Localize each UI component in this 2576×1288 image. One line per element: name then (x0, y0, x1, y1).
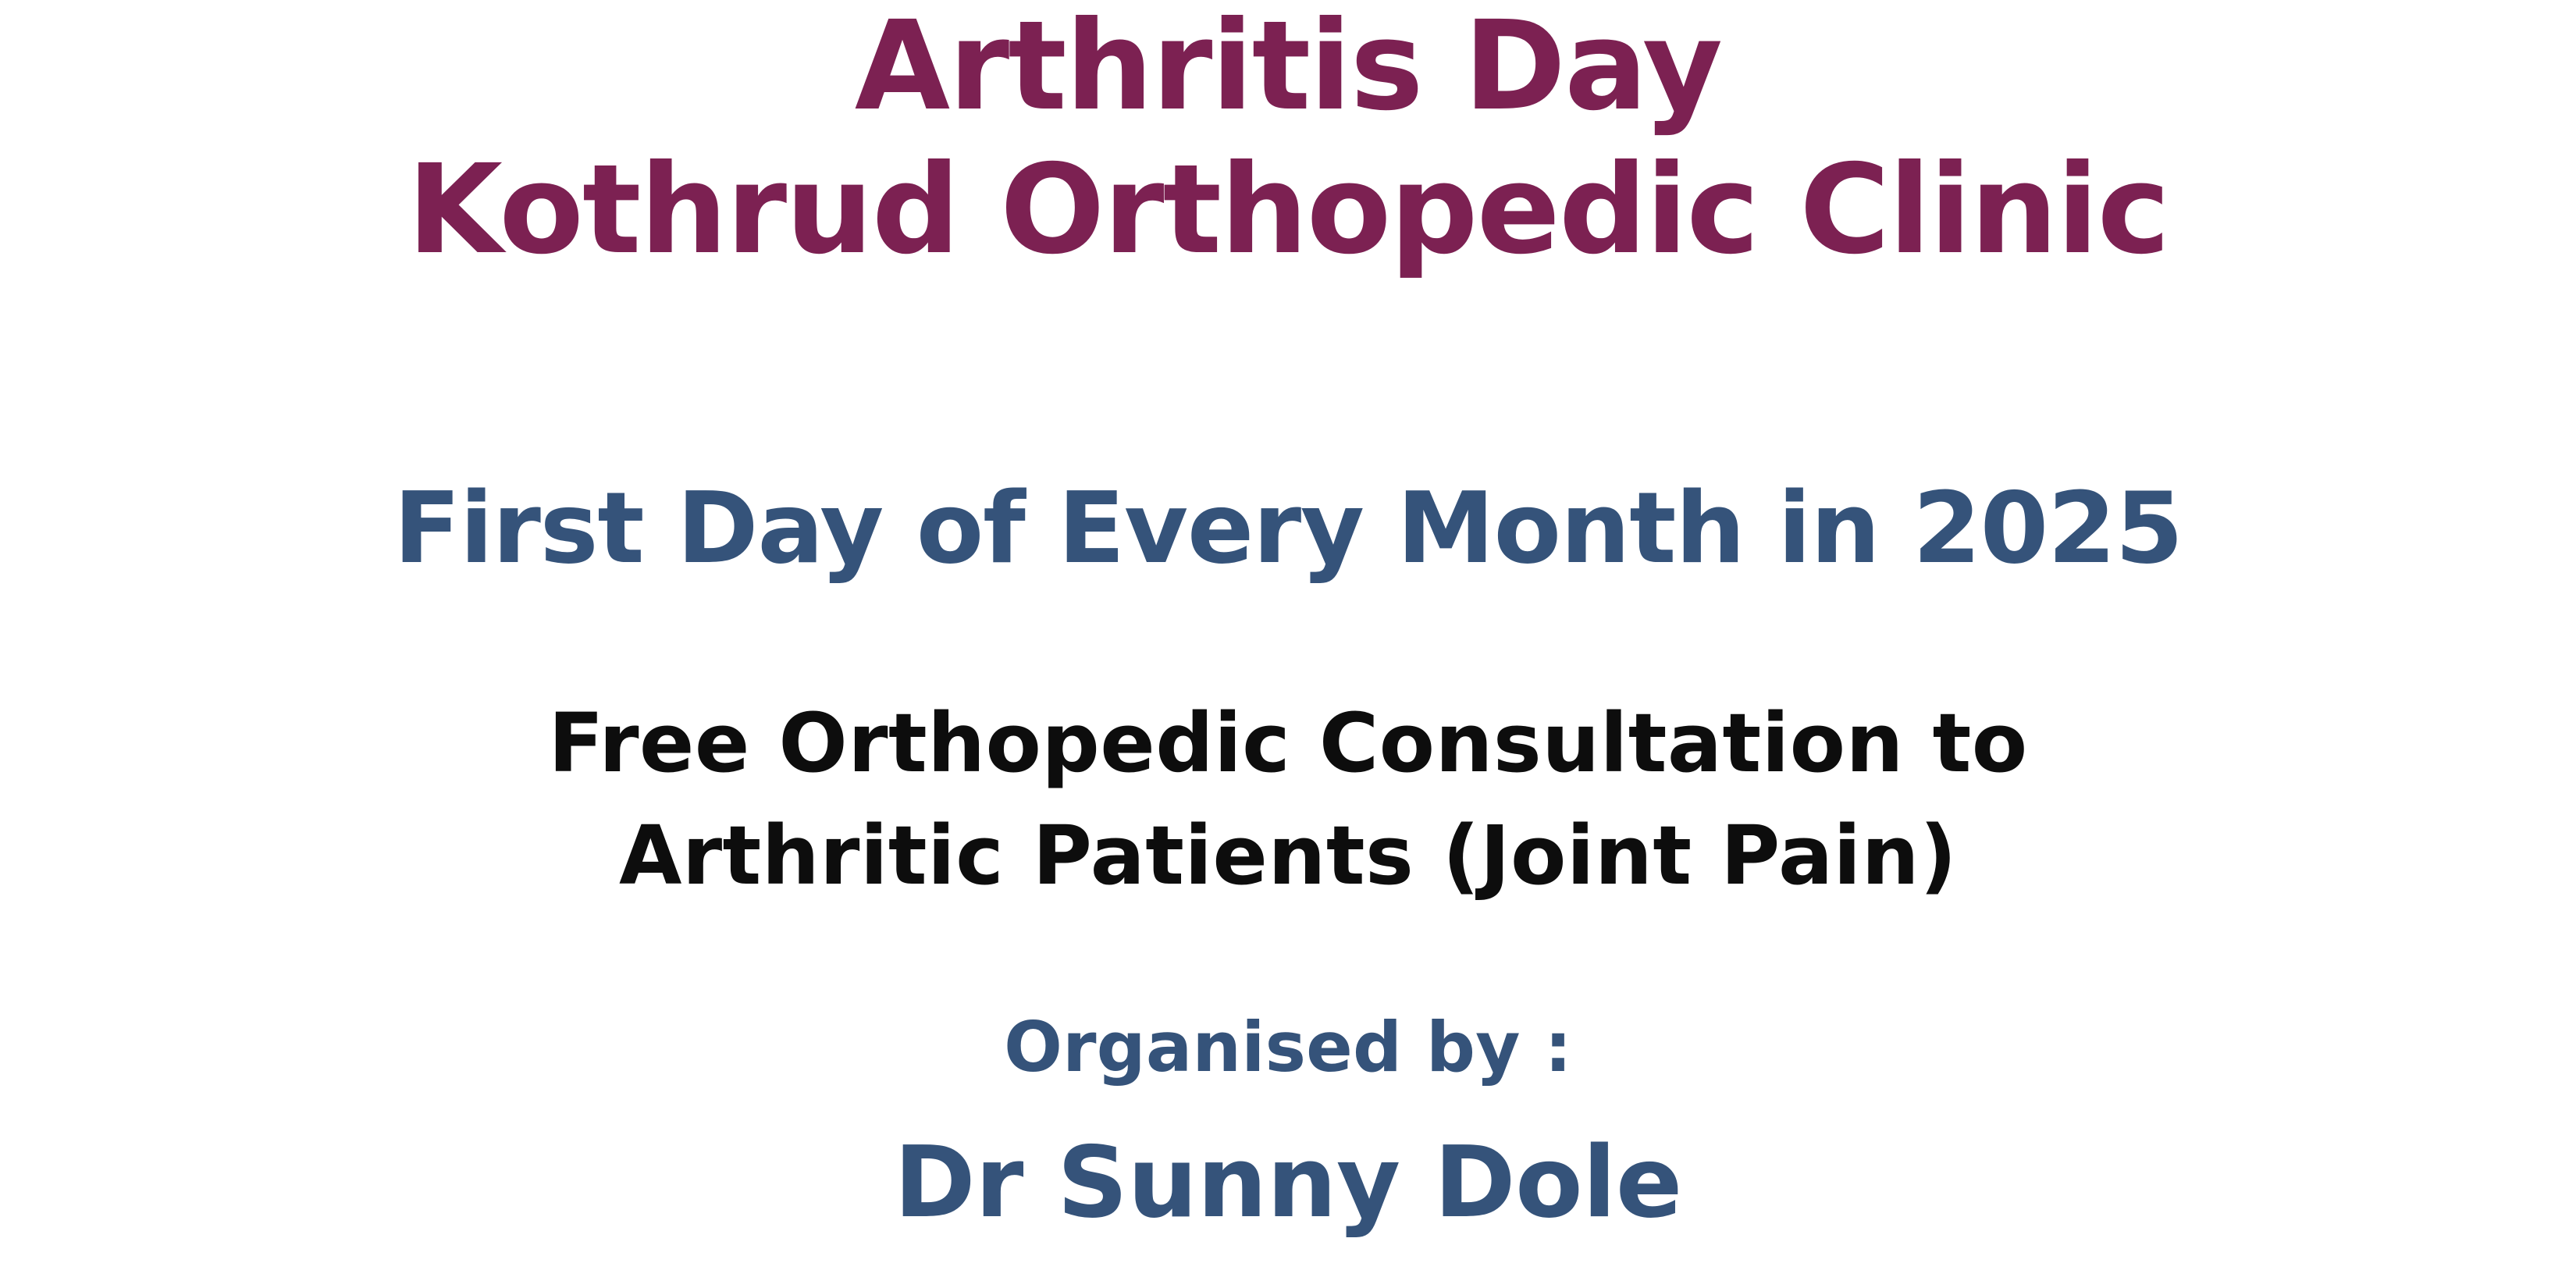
poster-title-line-1: Arthritis Day (0, 0, 2576, 128)
offer-line-1: Free Orthopedic Consultation to (0, 703, 2576, 784)
poster-canvas: Arthritis Day Kothrud Orthopedic Clinic … (0, 0, 2576, 1288)
poster-title-line-2: Kothrud Orthopedic Clinic (0, 128, 2576, 272)
organiser-name: Dr Sunny Dole (0, 1133, 2576, 1232)
offer-line-2: Arthritic Patients (Joint Pain) (0, 784, 2576, 896)
schedule-date-line: First Day of Every Month in 2025 (0, 479, 2576, 578)
offer-block: Free Orthopedic Consultation to Arthriti… (0, 703, 2576, 896)
poster-title-block: Arthritis Day Kothrud Orthopedic Clinic (0, 0, 2576, 272)
organiser-label: Organised by : (0, 1013, 2576, 1082)
